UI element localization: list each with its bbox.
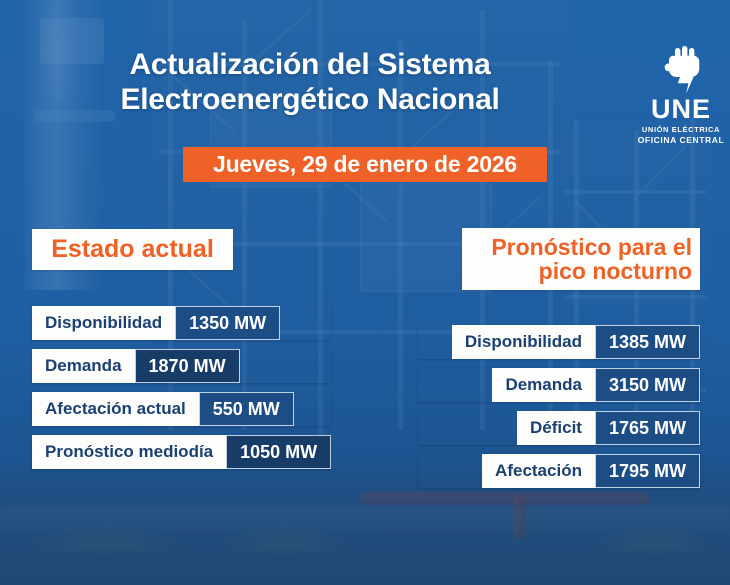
metrics-list-pronostico-nocturno: Disponibilidad 1385 MW Demanda 3150 MW D… <box>418 325 700 497</box>
section-heading-estado-actual: Estado actual <box>32 229 233 270</box>
date-banner: Jueves, 29 de enero de 2026 <box>183 147 547 182</box>
date-text: Jueves, 29 de enero de 2026 <box>213 151 517 178</box>
une-logo: UNE UNIÓN ELÉCTRICA OFICINA CENTRAL <box>636 44 726 145</box>
fist-lightning-icon <box>655 44 707 94</box>
metric-label: Pronóstico mediodía <box>32 435 226 469</box>
title-line-1: Actualización del Sistema <box>130 48 491 81</box>
metrics-list-estado-actual: Disponibilidad 1350 MW Demanda 1870 MW A… <box>32 306 331 478</box>
metric-label: Afectación <box>482 454 595 488</box>
metric-label: Demanda <box>32 349 135 383</box>
metric-row: Demanda 3150 MW <box>418 368 700 402</box>
logo-subtitle-2: OFICINA CENTRAL <box>636 135 726 145</box>
metric-row: Afectación actual 550 MW <box>32 392 331 426</box>
metric-value: 1765 MW <box>595 411 700 445</box>
page-title: Actualización del Sistema Electroenergét… <box>0 48 620 118</box>
metric-value: 1795 MW <box>595 454 700 488</box>
metric-value: 1050 MW <box>226 435 331 469</box>
section-heading-left-text: Estado actual <box>51 235 214 264</box>
metric-label: Disponibilidad <box>32 306 175 340</box>
metric-label: Déficit <box>517 411 595 445</box>
metric-row: Déficit 1765 MW <box>418 411 700 445</box>
section-heading-right-line-1: Pronóstico para el <box>491 235 692 259</box>
section-heading-right-line-2: pico nocturno <box>539 259 692 283</box>
metric-label: Afectación actual <box>32 392 199 426</box>
metric-value: 1870 MW <box>135 349 240 383</box>
metric-row: Pronóstico mediodía 1050 MW <box>32 435 331 469</box>
metric-row: Demanda 1870 MW <box>32 349 331 383</box>
metric-value: 1385 MW <box>595 325 700 359</box>
title-line-2: Electroenergético Nacional <box>0 83 620 118</box>
logo-subtitle-1: UNIÓN ELÉCTRICA <box>636 125 726 134</box>
metric-value: 550 MW <box>199 392 294 426</box>
metric-value: 3150 MW <box>595 368 700 402</box>
logo-acronym: UNE <box>636 96 726 123</box>
metric-row: Disponibilidad 1385 MW <box>418 325 700 359</box>
metric-row: Disponibilidad 1350 MW <box>32 306 331 340</box>
infographic-poster: Actualización del Sistema Electroenergét… <box>0 0 730 585</box>
metric-row: Afectación 1795 MW <box>418 454 700 488</box>
section-heading-pronostico-nocturno: Pronóstico para el pico nocturno <box>462 228 700 290</box>
metric-label: Demanda <box>492 368 595 402</box>
metric-label: Disponibilidad <box>452 325 595 359</box>
metric-value: 1350 MW <box>175 306 280 340</box>
